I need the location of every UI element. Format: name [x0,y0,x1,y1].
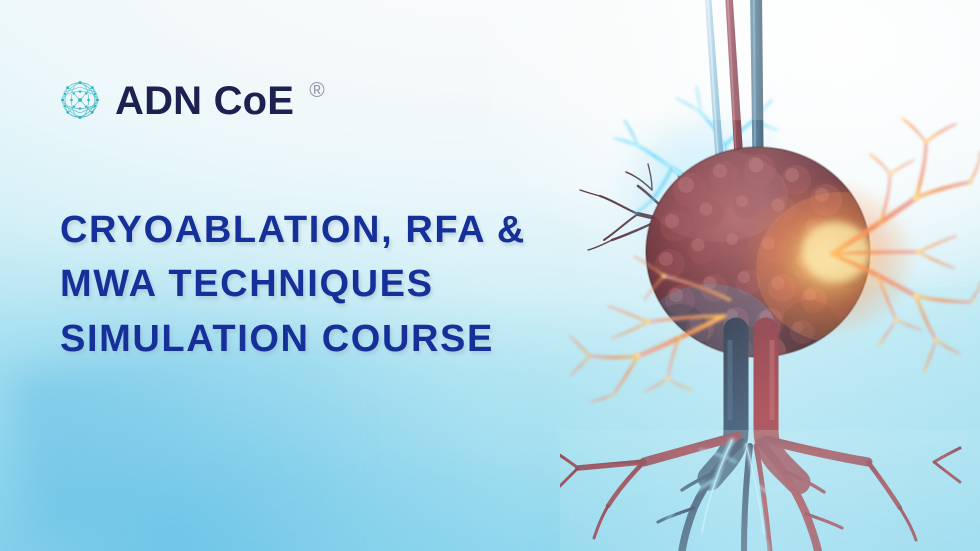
brand-name: ADN CoE [115,81,294,121]
brand-logo: ADN CoE ® [58,78,325,122]
course-title-line-2: MWA TECHNIQUES [60,257,660,311]
course-title-line-1: CRYOABLATION, RFA & [60,203,660,257]
registered-trademark-icon: ® [309,80,324,101]
network-sphere-icon [58,78,102,122]
course-banner: ADN CoE ® CRYOABLATION, RFA & MWA TECHNI… [0,0,980,551]
course-title-line-3: SIMULATION COURSE [60,312,660,366]
course-title: CRYOABLATION, RFA & MWA TECHNIQUES SIMUL… [60,203,660,366]
